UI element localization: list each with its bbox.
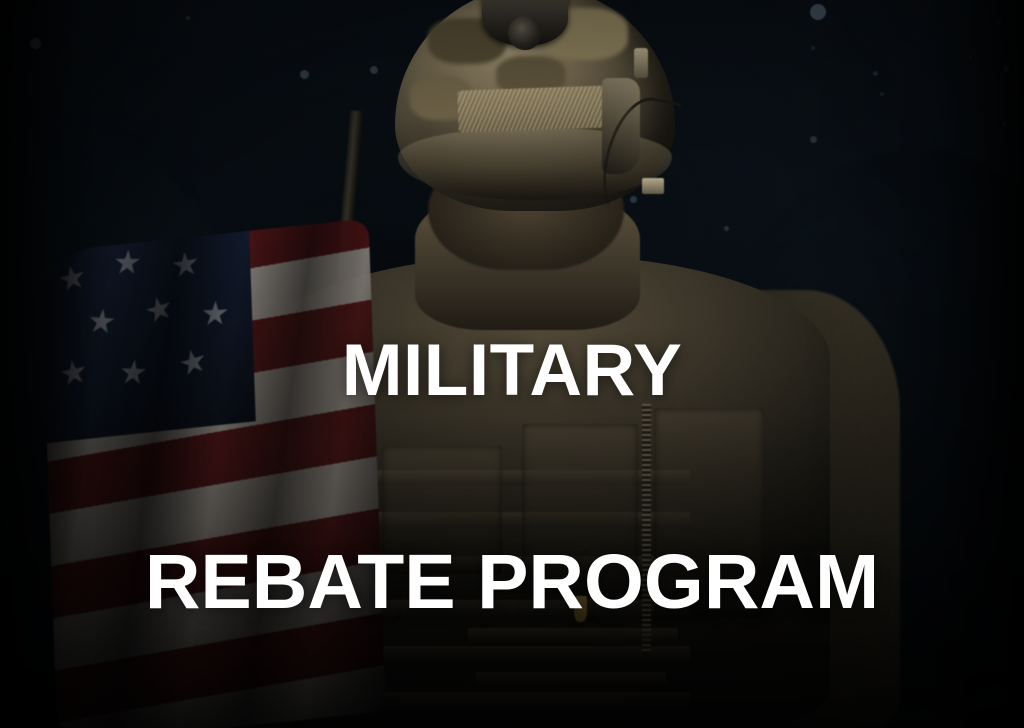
headline-line-1: MILITARY [145,336,879,406]
headline-line-2: REBATE PROGRAM [145,546,879,620]
headline: MILITARY REBATE PROGRAM [145,196,879,728]
banner-text-overlay: MILITARY REBATE PROGRAM FOR EVERYTHING Y… [0,0,1024,728]
military-rebate-banner: MILITARY REBATE PROGRAM FOR EVERYTHING Y… [0,0,1024,728]
